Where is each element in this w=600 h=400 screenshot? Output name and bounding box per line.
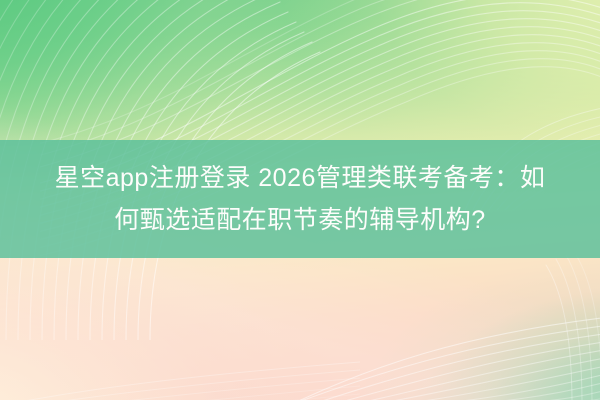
banner-image: 星空app注册登录 2026管理类联考备考：如 何甄选适配在职节奏的辅导机构? (0, 0, 600, 400)
caption-line-2: 何甄选适配在职节奏的辅导机构? (114, 199, 485, 241)
caption-band: 星空app注册登录 2026管理类联考备考：如 何甄选适配在职节奏的辅导机构? (0, 140, 600, 258)
arc-lines-bottom-right-icon (300, 255, 600, 400)
wave-lines-bottom-left-icon (0, 300, 360, 400)
caption-line-1: 星空app注册登录 2026管理类联考备考：如 (55, 157, 546, 199)
